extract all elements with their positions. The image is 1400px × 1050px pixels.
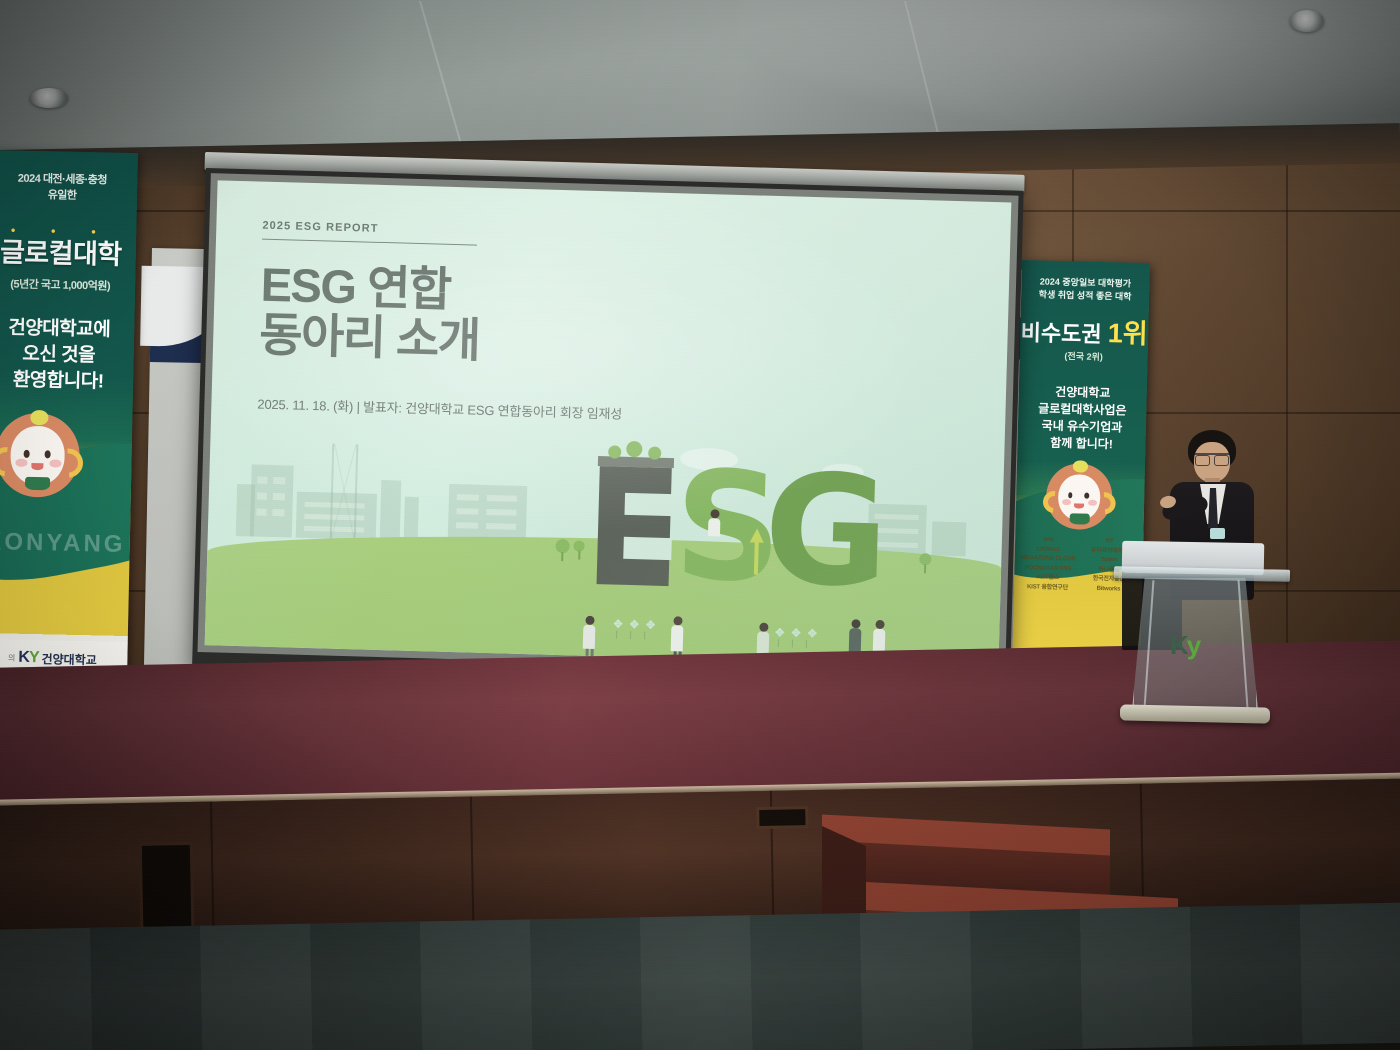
person-body (583, 625, 596, 649)
mascot-mouth (1074, 503, 1083, 508)
slide-kicker: 2025 ESG REPORT (262, 220, 378, 235)
banner-right-body1: 건양대학교 (1019, 384, 1147, 403)
ky-logo-icon: KY (18, 649, 39, 667)
mascot-eye-right (44, 450, 50, 458)
ground-tree-trunk (561, 552, 563, 561)
banner-footer-prefix: 의 (8, 652, 16, 663)
mascot-scarf (25, 477, 50, 491)
person-body (671, 625, 684, 651)
rooftop-tree (626, 441, 642, 457)
building-silhouette (404, 497, 419, 541)
radio-tower-silhouette (330, 444, 359, 540)
banner-left-line2: 유일한 (0, 188, 137, 205)
slide-illustration: S G (205, 430, 1005, 667)
building-window (487, 495, 517, 502)
mascot-mouth (31, 463, 43, 470)
building-silhouette (236, 484, 255, 536)
partner-logo: ADT캡스 (1018, 574, 1077, 582)
konyang-sheep-mascot-icon (1045, 463, 1113, 531)
banner-left-line1: 2024 대전·세종·충청 (0, 172, 138, 189)
building-window (456, 522, 478, 529)
person-body (708, 518, 720, 536)
ground-tree-trunk (924, 564, 926, 573)
shrub-stem (630, 631, 631, 639)
partner-logo: LIGNex1 (1019, 546, 1078, 554)
ky-k-letter: K (18, 649, 29, 666)
ky-y-letter: Y (29, 649, 39, 666)
building-window (486, 523, 516, 530)
konyang-sheep-mascot-icon (0, 412, 80, 498)
podium-logo-k: K (1170, 630, 1187, 660)
shrub-cluster: ✥ ✥ ✥ (613, 618, 657, 632)
banner-right-line2: 학생 취업 성적 좋은 대학 (1021, 289, 1149, 304)
slide-rule-divider (262, 239, 477, 246)
banner-left-headline: 글로컬대학 (0, 238, 136, 269)
mascot-eye-left (23, 450, 29, 458)
building-silhouette (931, 521, 966, 556)
building-window (257, 477, 267, 484)
building-window (257, 493, 267, 500)
banner-right-body2: 글로컬대학사업은 (1018, 401, 1146, 420)
mascot-scarf (1069, 513, 1089, 524)
projection-screen: 2025 ESG REPORT ESG 연합 동아리 소개 2025. 11. … (192, 168, 1024, 691)
building-window (273, 493, 285, 500)
slide-title: ESG 연합 동아리 소개 (259, 260, 482, 366)
letter-g: G (762, 469, 857, 594)
building-window (256, 509, 266, 516)
partner-logo: aws (1019, 536, 1078, 544)
projection-screen-border: 2025 ESG REPORT ESG 연합 동아리 소개 2025. 11. … (197, 173, 1018, 674)
podium-logo-y: y (1187, 630, 1199, 660)
banner-right-rank-note: (전국 2위) (1020, 348, 1148, 364)
banner-right-rank: 비수도권 1위 (1020, 318, 1149, 348)
mascot-eye-right (1084, 493, 1089, 499)
podium-ky-logo-icon: Ky (1170, 630, 1199, 661)
banner-left-note: (5년간 국고 1,000억원) (0, 275, 135, 294)
building-silhouette (448, 484, 528, 544)
building-window (457, 494, 479, 501)
building-silhouette (250, 464, 294, 537)
presenter-name-badge (1210, 528, 1225, 539)
slide-meta-line: 2025. 11. 18. (화) | 발표자: 건양대학교 ESG 연합동아리… (257, 394, 622, 423)
building-silhouette (380, 480, 402, 541)
banner-left-welcome3: 환영합니다! (0, 368, 133, 394)
auditorium-scene: 교 y 2024 대전·세종·충청 유일한 • • • 글로컬대학 (5년간 국… (0, 0, 1400, 1050)
podium-area: Ky (1118, 420, 1308, 720)
building-window (456, 508, 478, 515)
banner-left-welcome: 2024 대전·세종·충청 유일한 • • • 글로컬대학 (5년간 국고 1,… (0, 150, 138, 678)
banner-left-wordmark: KONYANG (0, 528, 130, 559)
mascot-cheek-left (16, 459, 28, 467)
partner-logo: POONGSAN FNS (1018, 565, 1077, 573)
banner-left-welcome1: 건양대학교에 (0, 316, 134, 342)
shrub-stem (806, 640, 807, 648)
ground-tree-trunk (578, 551, 580, 560)
partner-logo: MEGAZONE CLOUD (1019, 555, 1078, 563)
rank-region-label: 비수도권 (1020, 320, 1102, 347)
rank-number: 1위 (1107, 318, 1148, 349)
building-window (273, 477, 285, 484)
podium-base (1120, 704, 1270, 723)
letter-e (597, 466, 672, 586)
shrub-stem (616, 631, 617, 639)
presentation-slide: 2025 ESG REPORT ESG 연합 동아리 소개 2025. 11. … (205, 180, 1012, 667)
partner-logo: KIST 융합연구단 (1018, 584, 1077, 592)
building-window (486, 509, 516, 516)
person-body (873, 629, 886, 653)
shrub-cluster: ✥ ✥ ✥ (775, 626, 819, 640)
person-body (849, 628, 862, 652)
mascot-cheek-right (49, 460, 61, 468)
stage-vent-grille (756, 806, 808, 829)
glasses-icon (1195, 453, 1229, 462)
ceiling-downlight (1290, 10, 1324, 32)
ceiling-downlight (30, 88, 68, 108)
banner-left-welcome2: 오신 것을 (0, 342, 134, 368)
building-window (272, 509, 284, 516)
shrub-stem (778, 639, 779, 647)
person-body (757, 632, 770, 654)
mascot-bird-icon (30, 410, 49, 425)
